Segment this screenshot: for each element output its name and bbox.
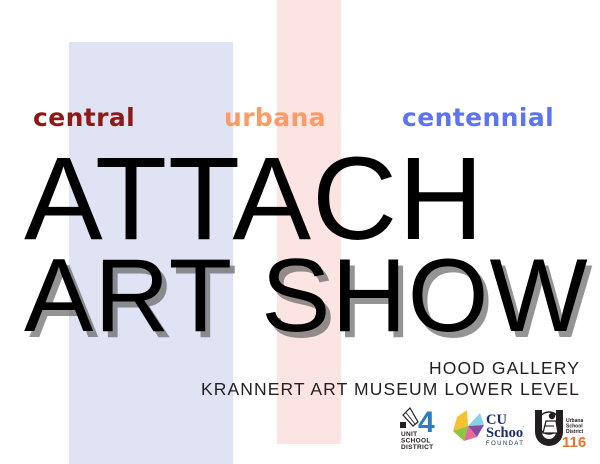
venue-address: KRANNERT ART MUSEUM LOWER LEVEL	[201, 379, 580, 400]
unit-4-numeral: 4	[418, 406, 435, 439]
venue-block: HOOD GALLERY KRANNERT ART MUSEUM LOWER L…	[201, 358, 580, 400]
pinwheel-icon	[453, 410, 484, 441]
unit-4-line-3: DISTRICT	[401, 444, 433, 450]
cu-schools-foundation-logo: CU Schools FOUNDATION	[448, 407, 524, 454]
cu-schools-line-2: Schools	[486, 425, 524, 441]
venue-gallery-name: HOOD GALLERY	[201, 358, 580, 379]
urbana-district-numeral: 116	[562, 434, 586, 450]
school-name-central: central	[33, 101, 135, 135]
school-name-row: central urbana centennial	[0, 101, 600, 135]
urbana-school-district-116-logo: 116 Urbana School District	[532, 406, 588, 455]
urbana-line-3: District	[566, 429, 584, 435]
cu-schools-line-3: FOUNDATION	[486, 441, 524, 447]
unit-4-school-district-logo: 4 UNIT SCHOOL DISTRICT	[398, 406, 440, 455]
sponsor-logo-strip: 4 UNIT SCHOOL DISTRICT CU Schools	[398, 406, 588, 455]
art-show-poster: central urbana centennial ATTACH ART SHO…	[0, 0, 600, 464]
school-name-centennial: centennial	[402, 101, 554, 135]
headline-line-art-show: ART SHOW	[24, 244, 589, 348]
school-name-urbana: urbana	[224, 101, 326, 135]
